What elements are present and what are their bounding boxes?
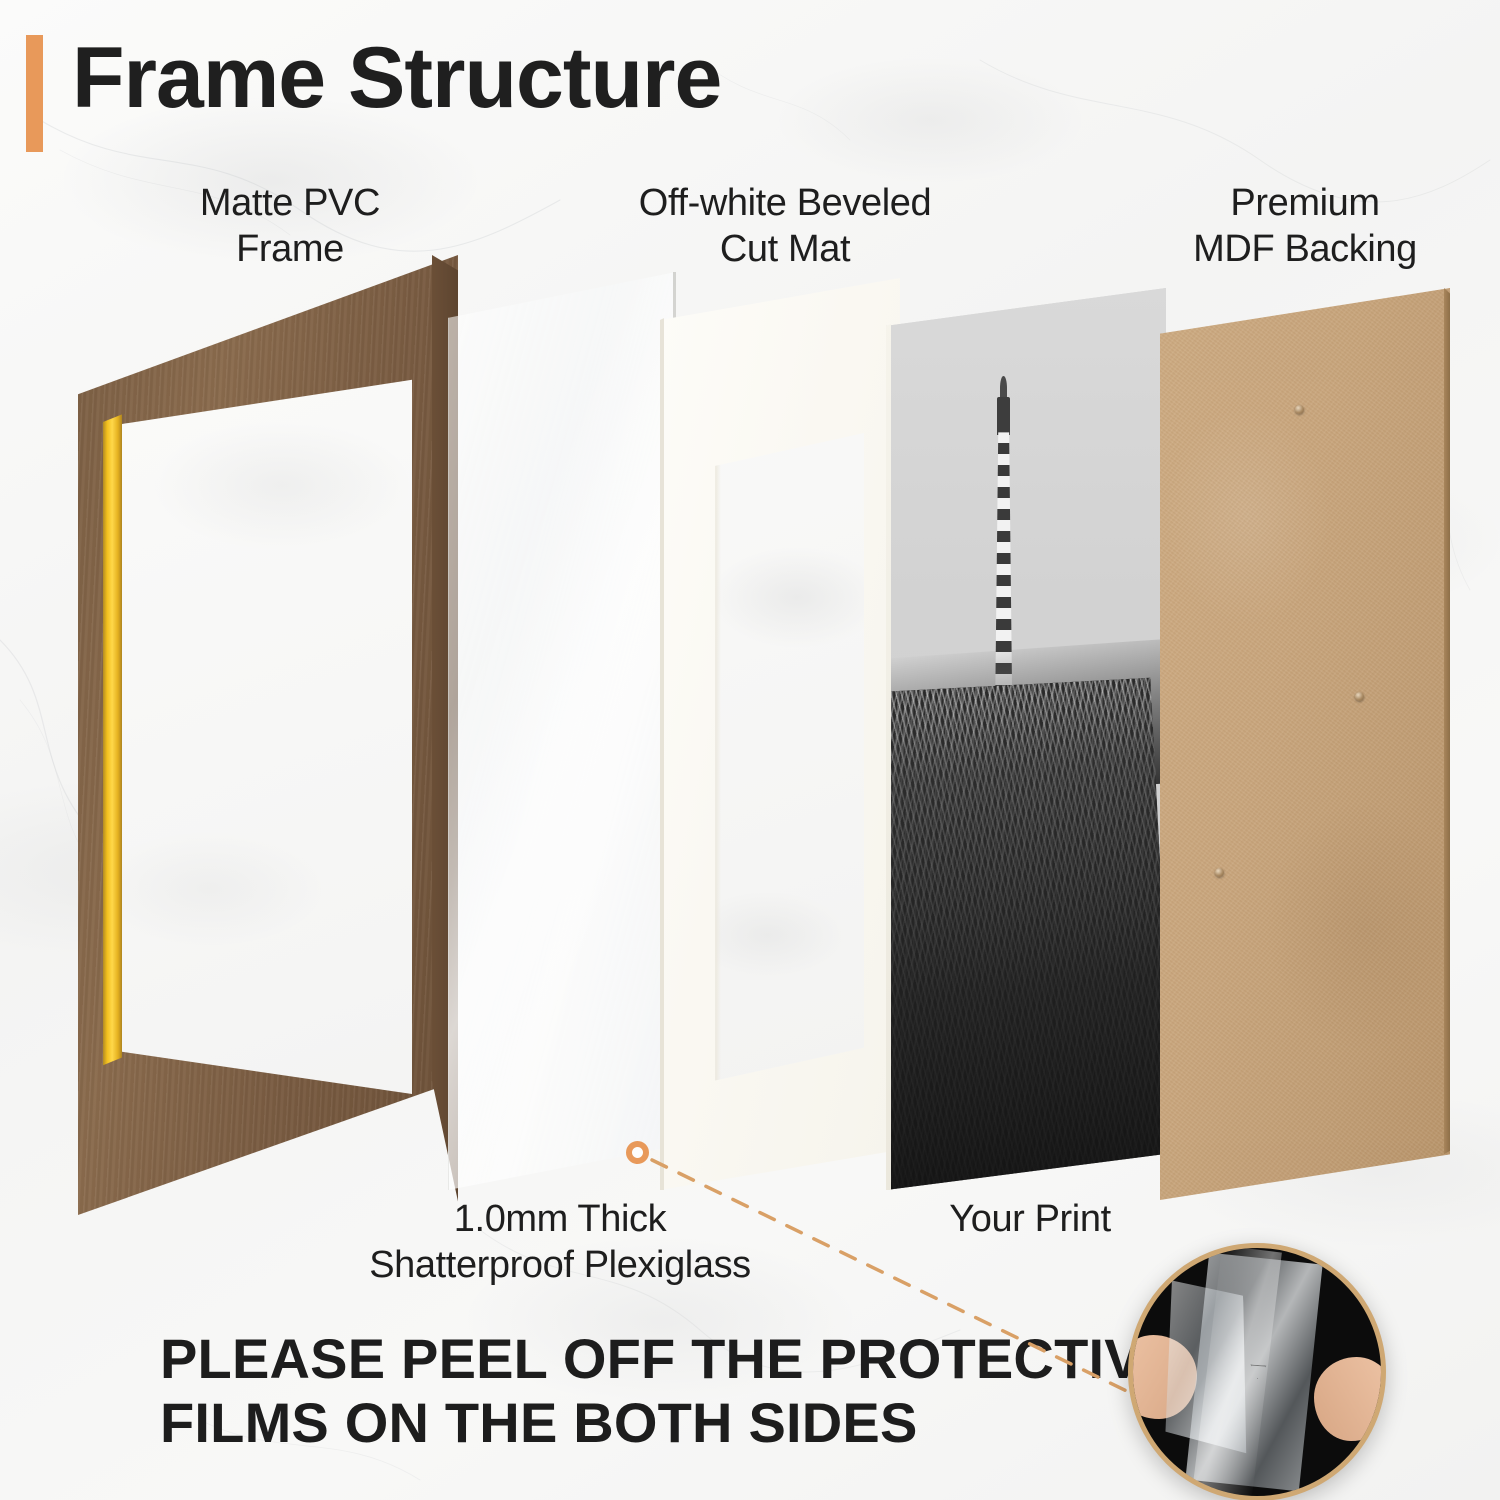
layer-print: [886, 288, 1166, 1190]
label-line-1: Premium: [1120, 180, 1490, 226]
screw-icon: [1355, 692, 1364, 701]
photo-dune-grass: [886, 678, 1166, 1190]
footer-line-2: FILMS ON THE BOTH SIDES: [160, 1391, 1080, 1455]
label-line-1: Your Print: [880, 1196, 1180, 1242]
title-accent-bar: [26, 35, 43, 152]
screw-icon: [1215, 868, 1224, 877]
label-line-2: Shatterproof Plexiglass: [285, 1242, 835, 1288]
protective-film-inset-photo: [1128, 1243, 1386, 1500]
print-photo: [886, 288, 1166, 1190]
lighthouse-lamp: [997, 397, 1010, 435]
label-your-print: Your Print: [880, 1196, 1180, 1242]
hand-right: [1314, 1357, 1386, 1441]
label-line-1: 1.0mm Thick: [285, 1196, 835, 1242]
infographic-canvas: Frame Structure Matte PVC Frame Off-whit…: [0, 0, 1500, 1500]
label-line-2: Cut Mat: [570, 226, 1000, 272]
label-line-1: Matte PVC: [120, 180, 460, 226]
screw-icon: [1295, 405, 1304, 414]
label-line-1: Off-white Beveled: [570, 180, 1000, 226]
footer-notice: PLEASE PEEL OFF THE PROTECTIVE FILMS ON …: [160, 1327, 1080, 1455]
page-title: Frame Structure: [72, 29, 721, 128]
label-line-2: MDF Backing: [1120, 226, 1490, 272]
layer-mdf-backing: [1160, 288, 1450, 1200]
ring-marker-icon: [626, 1141, 649, 1164]
layer-pvc-frame: [78, 255, 458, 1215]
layer-plexiglass: [448, 272, 676, 1190]
mdf-texture: [1160, 288, 1450, 1200]
label-mdf-backing: Premium MDF Backing: [1120, 180, 1490, 273]
label-plexiglass: 1.0mm Thick Shatterproof Plexiglass: [285, 1196, 835, 1289]
label-cut-mat: Off-white Beveled Cut Mat: [570, 180, 1000, 273]
print-left-edge: [886, 288, 891, 1190]
mdf-right-edge: [1444, 288, 1450, 1200]
layer-cut-mat: [660, 278, 900, 1190]
footer-line-1: PLEASE PEEL OFF THE PROTECTIVE: [160, 1327, 1080, 1391]
mat-left-edge: [660, 278, 664, 1190]
plexiglass-sheen: [448, 272, 676, 1190]
